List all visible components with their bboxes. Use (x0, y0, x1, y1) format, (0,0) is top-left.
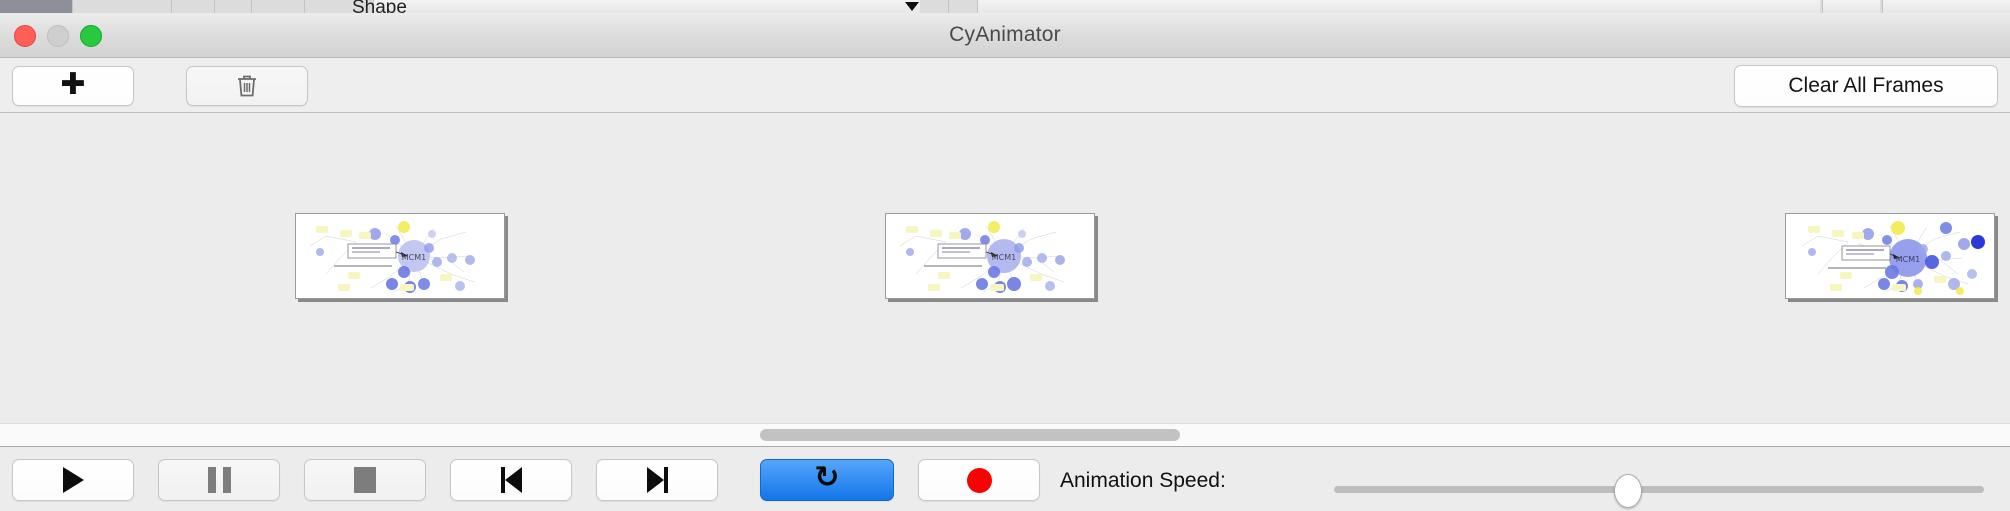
skip-previous-button[interactable] (450, 459, 572, 501)
bg-tab-2 (73, 0, 172, 13)
title-bar: CyAnimator (0, 13, 2010, 58)
clear-all-frames-button[interactable]: Clear All Frames (1734, 65, 1998, 107)
plus-icon: ✚ (60, 70, 85, 100)
svg-text:MCM1: MCM1 (402, 253, 426, 262)
bg-tab-5 (252, 0, 305, 13)
bg-tab-7 (920, 0, 949, 13)
skip-next-icon (647, 467, 668, 493)
bg-tab-8 (949, 0, 978, 13)
add-frame-button[interactable]: ✚ (12, 66, 134, 106)
loop-icon: ↻ (814, 463, 839, 493)
bg-tab-4 (215, 0, 252, 13)
page-title: CyAnimator (0, 13, 2010, 57)
bg-tab-3 (172, 0, 215, 13)
timeline-panel[interactable]: MCM1 (0, 113, 2010, 423)
bg-tab-10 (1880, 0, 1883, 13)
stop-button[interactable] (304, 459, 426, 501)
pause-icon (208, 467, 231, 493)
network-preview-1: MCM1 (296, 214, 504, 298)
animation-speed-label: Animation Speed: (1060, 469, 1226, 493)
delete-frame-button[interactable] (186, 66, 308, 106)
timeline-scrollbar[interactable] (0, 423, 2010, 447)
bg-caret-icon (905, 2, 919, 11)
frame-thumbnail-1[interactable]: MCM1 (295, 213, 505, 299)
bg-tab-1 (0, 0, 73, 13)
animation-speed-slider[interactable] (1334, 486, 1984, 493)
record-button[interactable] (918, 459, 1040, 501)
network-preview-2: MCM1 (886, 214, 1094, 298)
background-window-strip: Shape (0, 0, 2010, 14)
playback-controls: ↻ Animation Speed: (0, 446, 2010, 511)
play-button[interactable] (12, 459, 134, 501)
frame-thumbnail-3[interactable]: MCM1 (1785, 213, 1995, 299)
animation-speed-slider-thumb[interactable] (1614, 474, 1642, 508)
svg-text:MCM1: MCM1 (992, 253, 1016, 262)
record-icon (967, 468, 992, 493)
svg-text:MCM1: MCM1 (1896, 255, 1920, 264)
skip-previous-icon (501, 467, 522, 493)
cyanimator-window: Shape CyAnimator ✚ Clear All Frames (0, 0, 2010, 510)
pause-button[interactable] (158, 459, 280, 501)
bg-window-label: Shape (352, 0, 407, 14)
clear-all-frames-label: Clear All Frames (1788, 74, 1943, 98)
frame-thumbnail-2[interactable]: MCM1 (885, 213, 1095, 299)
toolbar: ✚ Clear All Frames (0, 58, 2010, 113)
network-preview-3: MCM1 (1786, 214, 1994, 298)
skip-next-button[interactable] (596, 459, 718, 501)
bg-tab-9 (1820, 0, 1823, 13)
timeline-scrollbar-thumb[interactable] (760, 429, 1180, 441)
trash-icon (235, 73, 259, 99)
loop-button[interactable]: ↻ (760, 459, 894, 501)
stop-icon (354, 467, 376, 493)
play-icon (63, 467, 84, 493)
